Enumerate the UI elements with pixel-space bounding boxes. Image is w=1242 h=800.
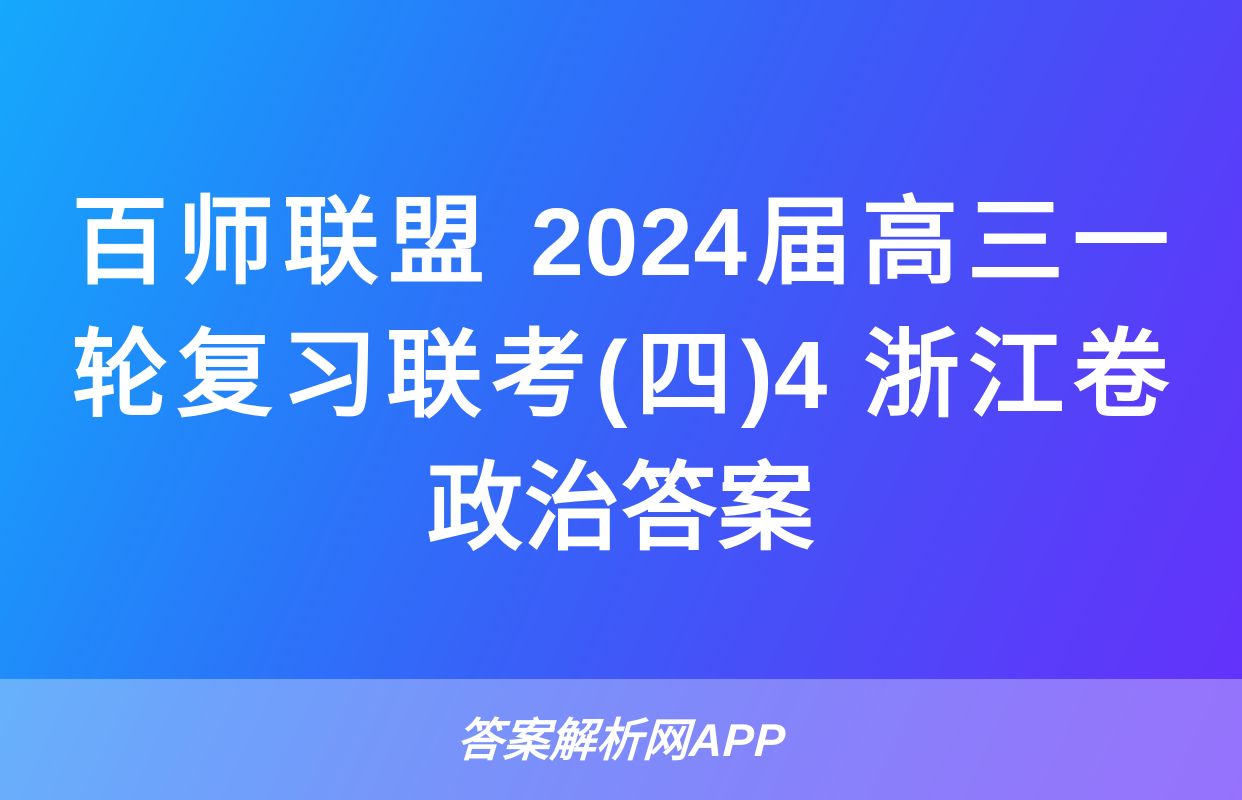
footer-brand-band: 答案解析网APP <box>0 679 1242 800</box>
title-line-2: 轮复习联考(四)4 浙江卷 <box>72 309 1170 442</box>
app-brand-label: 答案解析网APP <box>455 717 786 763</box>
title-line-1: 百师联盟 2024届高三一 <box>72 176 1170 309</box>
title-line-3: 政治答案 <box>72 442 1170 575</box>
page-title: 百师联盟 2024届高三一 轮复习联考(四)4 浙江卷 政治答案 <box>0 176 1242 575</box>
promo-cover-card: 百师联盟 2024届高三一 轮复习联考(四)4 浙江卷 政治答案 答案解析网AP… <box>0 0 1242 800</box>
